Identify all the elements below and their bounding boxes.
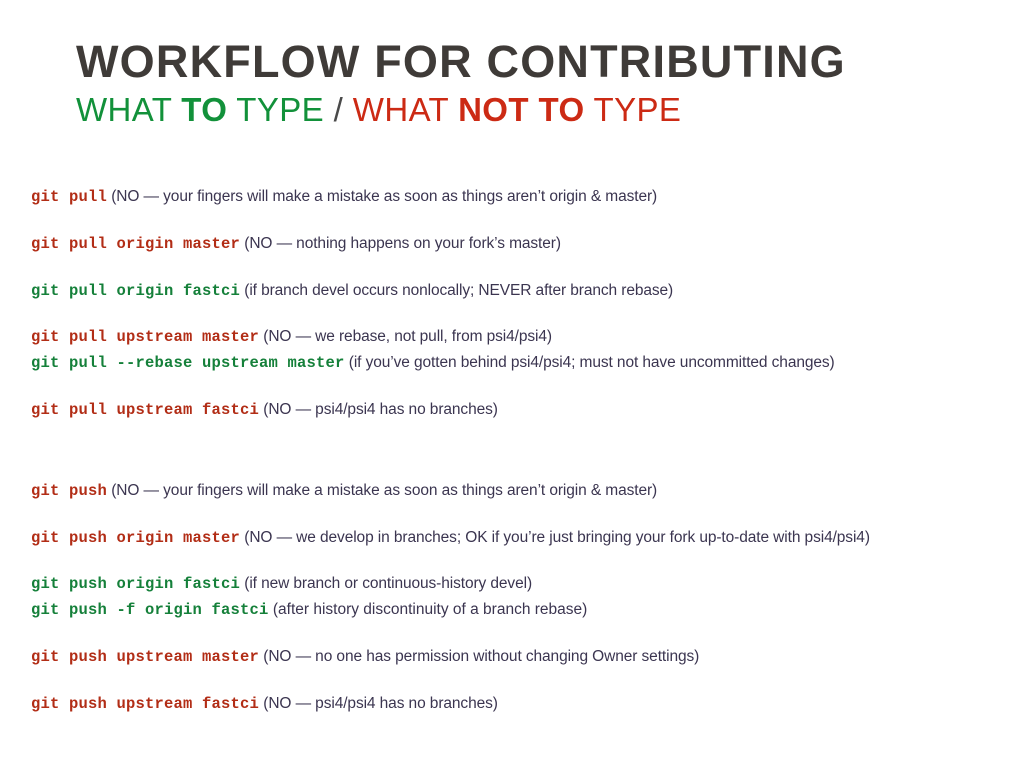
- page-subtitle: WHAT TO TYPE / WHAT NOT TO TYPE: [76, 90, 976, 130]
- slide-root: WORKFLOW FOR CONTRIBUTING WHAT TO TYPE /…: [0, 0, 1024, 768]
- command-block: git push origin fastci (if new branch or…: [31, 572, 1016, 623]
- command-line: git push upstream fastci (NO — psi4/psi4…: [31, 692, 1016, 717]
- command-block: git push upstream fastci (NO — psi4/psi4…: [31, 692, 1016, 717]
- command-text: git push: [31, 482, 107, 500]
- command-block: git push origin master (NO — we develop …: [31, 526, 1016, 551]
- subtitle-what-1: WHAT: [76, 91, 181, 128]
- command-text: git pull: [31, 188, 107, 206]
- command-note: (if branch devel occurs nonlocally; NEVE…: [240, 282, 673, 299]
- command-line: git push (NO — your fingers will make a …: [31, 479, 1016, 504]
- command-note: (NO — we develop in branches; OK if you’…: [240, 529, 870, 546]
- subtitle-what-2: WHAT: [353, 91, 458, 128]
- command-line: git pull (NO — your fingers will make a …: [31, 185, 1016, 210]
- command-block: git pull upstream master (NO — we rebase…: [31, 325, 1016, 376]
- command-text: git push origin master: [31, 529, 240, 547]
- command-text: git push -f origin fastci: [31, 601, 269, 619]
- command-note: (if you’ve gotten behind psi4/psi4; must…: [345, 354, 835, 371]
- command-text: git pull upstream master: [31, 328, 259, 346]
- command-text: git pull upstream fastci: [31, 401, 259, 419]
- command-line: git pull origin master (NO — nothing hap…: [31, 232, 1016, 257]
- command-line: git pull origin fastci (if branch devel …: [31, 279, 1016, 304]
- push-command-section: git push (NO — your fingers will make a …: [31, 479, 1016, 717]
- command-note: (NO — nothing happens on your fork’s mas…: [240, 235, 561, 252]
- slide-header: WORKFLOW FOR CONTRIBUTING WHAT TO TYPE /…: [76, 38, 976, 130]
- command-text: git pull origin fastci: [31, 282, 240, 300]
- command-block: git pull origin fastci (if branch devel …: [31, 279, 1016, 304]
- command-text: git pull origin master: [31, 235, 240, 253]
- page-title: WORKFLOW FOR CONTRIBUTING: [76, 38, 976, 86]
- command-line: git pull upstream fastci (NO — psi4/psi4…: [31, 398, 1016, 423]
- command-block: git push (NO — your fingers will make a …: [31, 479, 1016, 504]
- command-block: git pull (NO — your fingers will make a …: [31, 185, 1016, 210]
- command-line: git push -f origin fastci (after history…: [31, 598, 1016, 623]
- command-note: (if new branch or continuous-history dev…: [240, 575, 532, 592]
- subtitle-not-to: NOT TO: [458, 91, 584, 128]
- command-reference-body: git pull (NO — your fingers will make a …: [31, 185, 1016, 739]
- command-note: (NO — your fingers will make a mistake a…: [107, 482, 657, 499]
- command-note: (after history discontinuity of a branch…: [269, 601, 588, 618]
- subtitle-type-1: TYPE: [227, 91, 324, 128]
- command-text: git push upstream fastci: [31, 695, 259, 713]
- subtitle-to: TO: [181, 91, 227, 128]
- subtitle-type-2: TYPE: [585, 91, 682, 128]
- command-block: git pull upstream fastci (NO — psi4/psi4…: [31, 398, 1016, 423]
- command-block: git push upstream master (NO — no one ha…: [31, 645, 1016, 670]
- command-line: git pull --rebase upstream master (if yo…: [31, 351, 1016, 376]
- command-line: git push origin fastci (if new branch or…: [31, 572, 1016, 597]
- command-line: git pull upstream master (NO — we rebase…: [31, 325, 1016, 350]
- command-text: git push upstream master: [31, 648, 259, 666]
- command-note: (NO — your fingers will make a mistake a…: [107, 188, 657, 205]
- command-note: (NO — no one has permission without chan…: [259, 648, 699, 665]
- command-note: (NO — psi4/psi4 has no branches): [259, 695, 498, 712]
- pull-command-section: git pull (NO — your fingers will make a …: [31, 185, 1016, 423]
- subtitle-separator: /: [324, 91, 353, 128]
- command-note: (NO — psi4/psi4 has no branches): [259, 401, 498, 418]
- command-note: (NO — we rebase, not pull, from psi4/psi…: [259, 328, 552, 345]
- command-line: git push upstream master (NO — no one ha…: [31, 645, 1016, 670]
- command-text: git pull --rebase upstream master: [31, 354, 345, 372]
- command-block: git pull origin master (NO — nothing hap…: [31, 232, 1016, 257]
- command-text: git push origin fastci: [31, 575, 240, 593]
- command-line: git push origin master (NO — we develop …: [31, 526, 1016, 551]
